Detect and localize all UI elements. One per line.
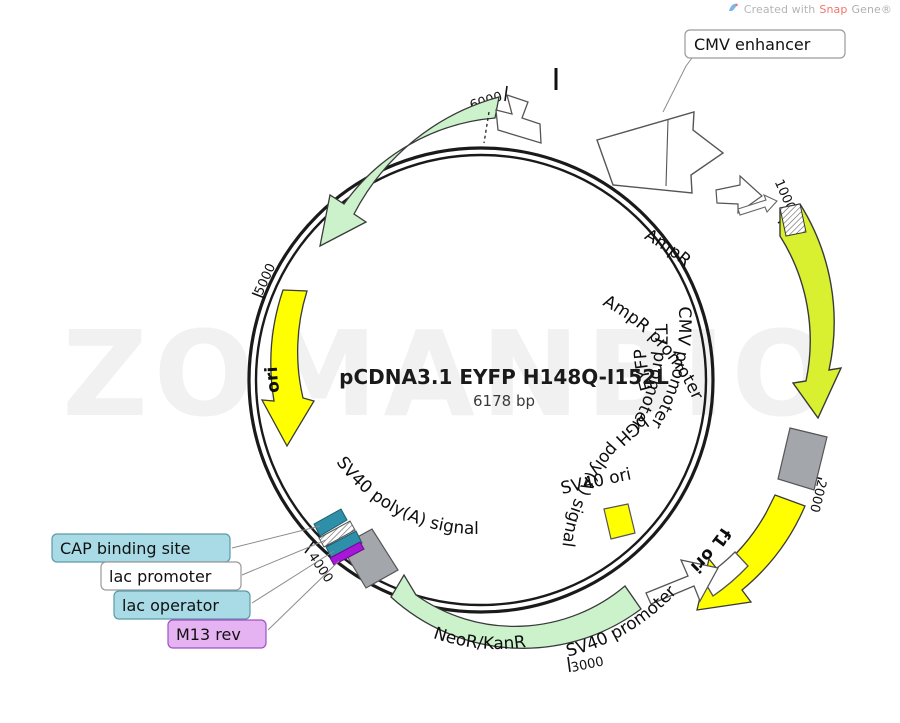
callout-lac-operator-label: lac operator	[122, 596, 219, 615]
feature-cmv-enhancer[interactable]	[597, 112, 723, 193]
plasmid-size: 6178 bp	[473, 392, 535, 410]
callout-cap-binding-site-label: CAP binding site	[60, 539, 190, 558]
feature-ampr[interactable]	[320, 97, 499, 246]
label-ampr: AmpR	[641, 225, 695, 271]
sv40-ori-box[interactable]	[604, 504, 635, 539]
cmv-enhancer-arrow[interactable]	[597, 112, 723, 193]
ampr-arrow[interactable]	[320, 97, 499, 246]
leader-m13-rev	[268, 561, 339, 630]
callout-cmv-enhancer-label: CMV enhancer	[694, 35, 811, 54]
label-ori: ori	[262, 366, 284, 394]
callout-lac-promoter-label: lac promoter	[109, 567, 212, 586]
callout-cap-binding-site[interactable]: CAP binding site	[52, 534, 230, 562]
callout-lac-operator[interactable]: lac operator	[114, 591, 250, 619]
label-sv40-polya: SV40 poly(A) signal	[332, 453, 479, 539]
plasmid-map: ZOMANBIO 1000 2000 3000 4000	[0, 0, 900, 723]
callout-lac-promoter[interactable]: lac promoter	[101, 562, 241, 590]
callout-m13-rev[interactable]: M13 rev	[168, 620, 266, 648]
leader-cmv-enhancer	[663, 58, 692, 112]
callout-cmv-enhancer[interactable]: CMV enhancer	[685, 30, 845, 58]
plasmid-name: pCDNA3.1 EYFP H148Q-I152L	[339, 365, 669, 389]
curved-feature-labels: AmpR AmpR promoter CMV promoter T7 promo…	[262, 225, 735, 661]
tick-5000: 5000	[252, 261, 279, 298]
feature-sv40-ori[interactable]	[604, 504, 635, 539]
callout-m13-rev-label: M13 rev	[176, 625, 241, 644]
leader-cap-binding-site	[232, 526, 320, 548]
